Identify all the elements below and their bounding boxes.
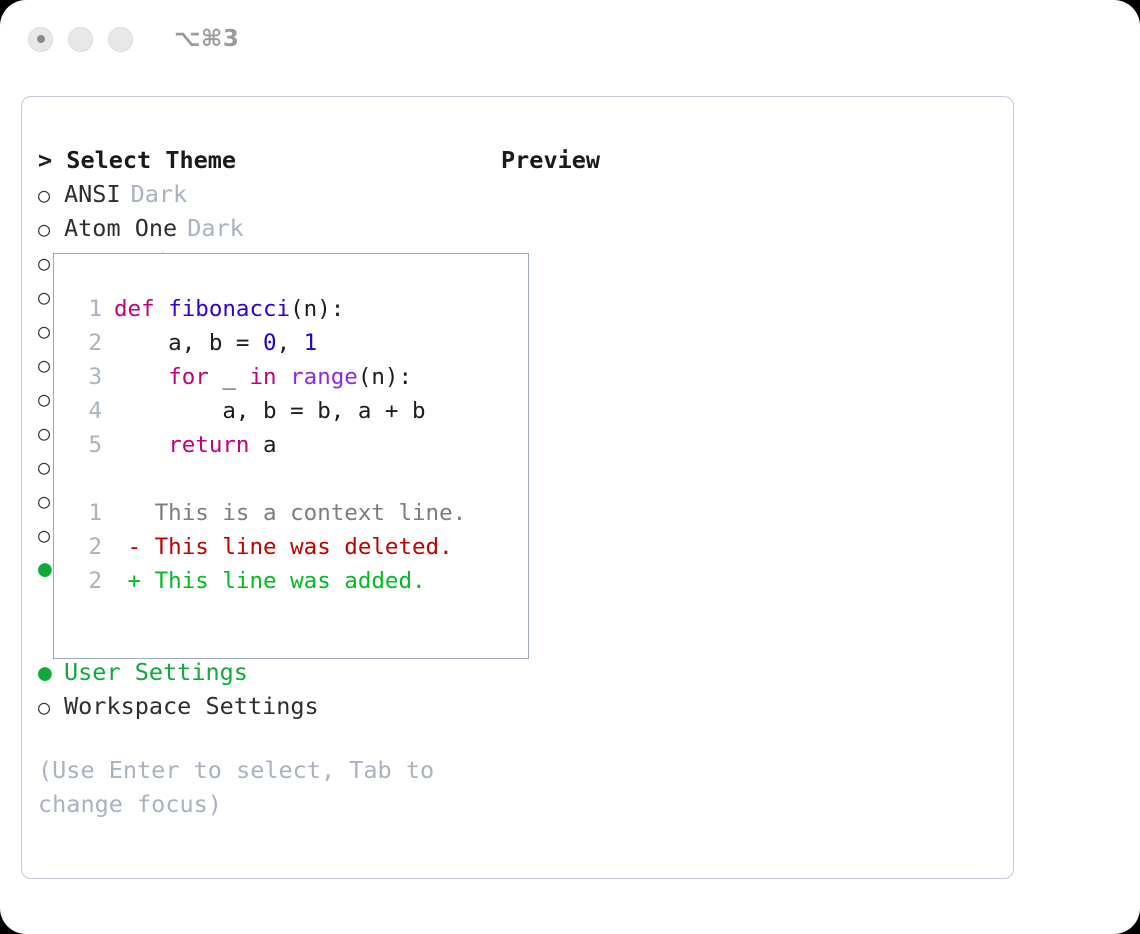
code-token: (n): bbox=[290, 296, 344, 322]
apply-to-option-row[interactable]: ●User Settings bbox=[38, 655, 488, 689]
code-token: for bbox=[168, 364, 209, 390]
diff-line-content: This is a context line. bbox=[114, 496, 466, 530]
hint-spacer bbox=[38, 723, 488, 753]
code-line-content: return a bbox=[114, 428, 277, 462]
code-token bbox=[114, 432, 168, 458]
code-token: in bbox=[249, 364, 276, 390]
diff-line-number: 1 bbox=[68, 496, 114, 530]
code-line-content: a, b = 0, 1 bbox=[114, 326, 317, 360]
line-number: 5 bbox=[68, 428, 114, 462]
code-token bbox=[114, 364, 168, 390]
line-number: 2 bbox=[68, 326, 114, 360]
code-line: 4 a, b = b, a + b bbox=[68, 394, 528, 428]
code-token: 1 bbox=[304, 330, 318, 356]
apply-to-list[interactable]: ●User Settings○Workspace Settings bbox=[38, 655, 488, 723]
diff-line-number: 2 bbox=[68, 530, 114, 564]
line-number: 1 bbox=[68, 292, 114, 326]
diff-line: 2 - This line was deleted. bbox=[68, 530, 528, 564]
diff-line: 2 + This line was added. bbox=[68, 564, 528, 598]
code-token: a, b = b, a + b bbox=[114, 398, 426, 424]
diff-line-content: + This line was added. bbox=[114, 564, 426, 598]
code-line-content: def fibonacci(n): bbox=[114, 292, 344, 326]
line-number: 3 bbox=[68, 360, 114, 394]
code-token: (n): bbox=[358, 364, 412, 390]
app-window: ⌥⌘3 > Select Theme ○ANSIDark○Atom OneDar… bbox=[0, 0, 1140, 934]
theme-option-row[interactable]: ○Atom OneDark bbox=[38, 211, 488, 245]
select-theme-heading: > Select Theme bbox=[38, 143, 488, 177]
preview-heading: Preview bbox=[501, 143, 1001, 177]
code-preview: 1def fibonacci(n):2 a, b = 0, 13 for _ i… bbox=[54, 254, 528, 598]
code-token: return bbox=[168, 432, 249, 458]
diff-line-number: 2 bbox=[68, 564, 114, 598]
theme-name-label: ANSI bbox=[64, 177, 121, 211]
theme-name-label: Atom One bbox=[64, 211, 177, 245]
code-token: def bbox=[114, 296, 168, 322]
code-diff-separator bbox=[68, 462, 528, 496]
keyboard-shortcut-label: ⌥⌘3 bbox=[174, 26, 239, 52]
theme-kind-label: Dark bbox=[187, 211, 244, 245]
code-token: a bbox=[249, 432, 276, 458]
code-line-content: a, b = b, a + b bbox=[114, 394, 426, 428]
radio-unselected-icon[interactable]: ○ bbox=[38, 178, 64, 212]
window-dot-third-icon[interactable] bbox=[108, 27, 133, 52]
radio-unselected-icon[interactable]: ○ bbox=[38, 690, 64, 724]
main-panel: > Select Theme ○ANSIDark○Atom OneDark○Ay… bbox=[21, 96, 1014, 879]
title-bar: ⌥⌘3 bbox=[0, 0, 1140, 78]
apply-to-label: User Settings bbox=[64, 655, 248, 689]
code-token: fibonacci bbox=[168, 296, 290, 322]
window-dot-active-icon[interactable] bbox=[28, 27, 53, 52]
apply-to-label: Workspace Settings bbox=[64, 689, 319, 723]
diff-line-content: - This line was deleted. bbox=[114, 530, 453, 564]
code-line-content: for _ in range(n): bbox=[114, 360, 412, 394]
code-line: 3 for _ in range(n): bbox=[68, 360, 528, 394]
code-line: 1def fibonacci(n): bbox=[68, 292, 528, 326]
code-line: 2 a, b = 0, 1 bbox=[68, 326, 528, 360]
theme-kind-label: Dark bbox=[131, 177, 188, 211]
window-dot-second-icon[interactable] bbox=[68, 27, 93, 52]
preview-box: 1def fibonacci(n):2 a, b = 0, 13 for _ i… bbox=[53, 253, 529, 659]
code-token bbox=[277, 364, 291, 390]
window-dot-active-inner bbox=[37, 35, 45, 43]
code-token: a, b = bbox=[114, 330, 263, 356]
code-token: 0 bbox=[263, 330, 277, 356]
keyboard-hint-text: (Use Enter to select, Tab to change focu… bbox=[38, 753, 458, 821]
code-token: , bbox=[277, 330, 304, 356]
preview-column: Preview bbox=[501, 143, 1001, 177]
radio-selected-icon[interactable]: ● bbox=[38, 656, 64, 690]
diff-line: 1 This is a context line. bbox=[68, 496, 528, 530]
code-token: range bbox=[290, 364, 358, 390]
apply-to-option-row[interactable]: ○Workspace Settings bbox=[38, 689, 488, 723]
code-token: _ bbox=[209, 364, 250, 390]
theme-option-row[interactable]: ○ANSIDark bbox=[38, 177, 488, 211]
line-number: 4 bbox=[68, 394, 114, 428]
code-line: 5 return a bbox=[68, 428, 528, 462]
radio-unselected-icon[interactable]: ○ bbox=[38, 212, 64, 246]
